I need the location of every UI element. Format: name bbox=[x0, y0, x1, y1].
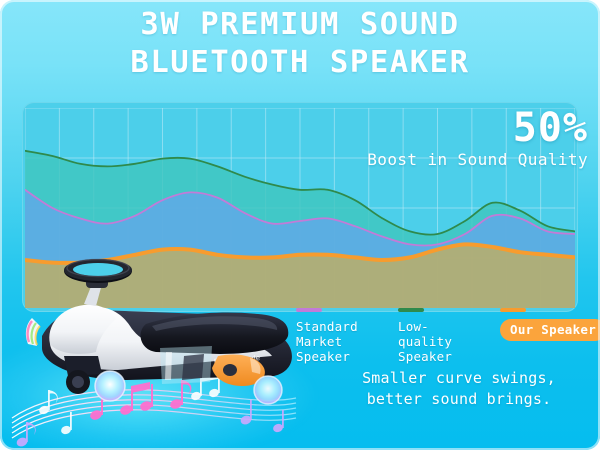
legend-label-standard-1: Standard bbox=[296, 319, 384, 334]
legend-swatch-lowquality bbox=[398, 308, 424, 312]
legend-label-lowquality-2: quality Speaker bbox=[398, 334, 486, 364]
tagline-line-2: better sound brings. bbox=[330, 389, 588, 410]
legend-swatch-ourspeaker bbox=[500, 308, 526, 312]
legend-item-ourspeaker[interactable]: Our Speaker bbox=[500, 308, 592, 341]
page-title: 3W PREMIUM SOUND BLUETOOTH SPEAKER bbox=[0, 6, 600, 82]
legend-item-lowquality[interactable]: Low- quality Speaker bbox=[398, 308, 486, 364]
legend-label-lowquality-1: Low- bbox=[398, 319, 486, 334]
legend-label-standard-2: Market Speaker bbox=[296, 334, 384, 364]
title-line-1: 3W PREMIUM SOUND bbox=[0, 6, 600, 44]
product-image-swing-car: Fanttu&Ryde bbox=[6, 252, 306, 422]
title-line-2: BLUETOOTH SPEAKER bbox=[0, 44, 600, 82]
chart-legend: Standard Market Speaker Low- quality Spe… bbox=[296, 308, 592, 360]
tagline-line-1: Smaller curve swings, bbox=[330, 368, 588, 389]
legend-swatch-standard bbox=[296, 308, 322, 312]
boost-caption: Boost in Sound Quality bbox=[367, 150, 588, 170]
boost-percent-value: 50% bbox=[367, 108, 588, 148]
tagline: Smaller curve swings, better sound bring… bbox=[330, 368, 588, 410]
boost-callout: 50% Boost in Sound Quality bbox=[367, 108, 588, 170]
legend-badge-ourspeaker: Our Speaker bbox=[500, 319, 600, 341]
promo-card: 3W PREMIUM SOUND BLUETOOTH SPEAKER 50% B… bbox=[0, 0, 600, 450]
legend-item-standard[interactable]: Standard Market Speaker bbox=[296, 308, 384, 364]
